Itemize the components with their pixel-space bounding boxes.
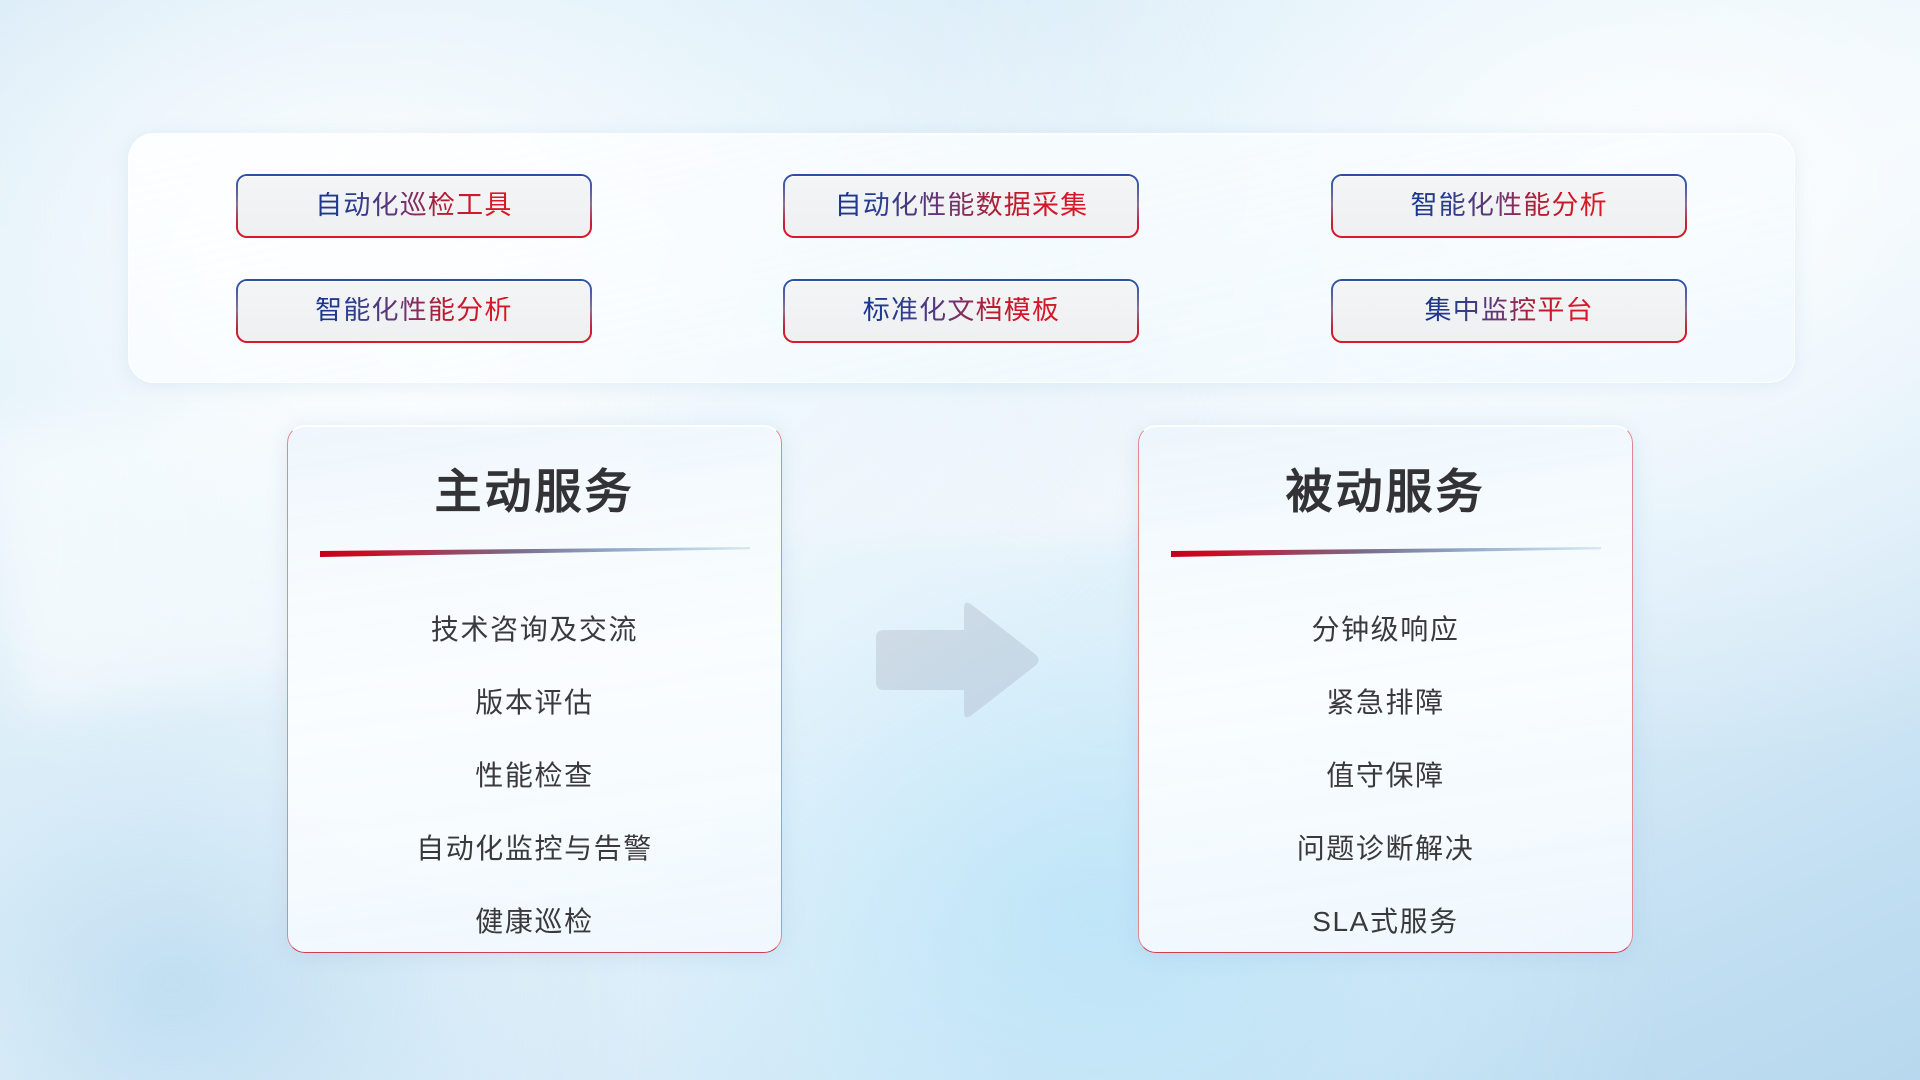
capability-pill-face: 自动化巡检工具 [238, 176, 590, 236]
capability-pill-label: 标准化文档模板 [863, 297, 1060, 324]
capability-pill-label: 智能化性能分析 [1410, 192, 1607, 219]
right-arrow-icon [872, 598, 1042, 723]
service-list-item: 自动化监控与告警 [416, 812, 653, 885]
service-list-item: 值守保障 [1326, 739, 1444, 812]
capability-pill-face: 智能化性能分析 [1333, 176, 1685, 236]
card-title: 主动服务 [288, 426, 781, 515]
capability-pill-face: 自动化性能数据采集 [785, 176, 1137, 236]
capability-pill-label: 智能化性能分析 [315, 297, 512, 324]
capability-panel: 自动化巡检工具 自动化性能数据采集 智能化性能分析 智能化性能分析 标准化文档模… [128, 133, 1795, 383]
service-list-item: 性能检查 [475, 739, 593, 812]
capability-pill-face: 智能化性能分析 [238, 281, 590, 341]
capability-pill-label: 自动化性能数据采集 [835, 192, 1089, 219]
capability-pill-grid: 自动化巡检工具 自动化性能数据采集 智能化性能分析 智能化性能分析 标准化文档模… [129, 134, 1794, 382]
service-list-item: SLA式服务 [1312, 885, 1459, 953]
service-item-list: 分钟级响应 紧急排障 值守保障 问题诊断解决 SLA式服务 [1139, 559, 1632, 953]
capability-pill[interactable]: 智能化性能分析 [1331, 174, 1687, 238]
capability-pill[interactable]: 集中监控平台 [1331, 279, 1687, 343]
capability-pill-face: 集中监控平台 [1333, 281, 1685, 341]
card-divider [320, 547, 750, 559]
service-list-item: 技术咨询及交流 [431, 593, 638, 666]
capability-pill-label: 集中监控平台 [1425, 297, 1594, 324]
service-card-proactive: 主动服务 技术咨询及交流 版本评估 性能检查 自动化监控与告警 健康巡检 [287, 425, 782, 953]
service-card-reactive: 被动服务 分钟级响应 紧急排障 值守保障 问题诊断解决 SLA式服务 [1138, 425, 1633, 953]
service-list-item: 分钟级响应 [1311, 593, 1459, 666]
card-title: 被动服务 [1139, 426, 1632, 515]
capability-pill[interactable]: 自动化性能数据采集 [783, 174, 1139, 238]
service-item-list: 技术咨询及交流 版本评估 性能检查 自动化监控与告警 健康巡检 [288, 559, 781, 953]
service-list-item: 紧急排障 [1326, 666, 1444, 739]
capability-pill[interactable]: 自动化巡检工具 [236, 174, 592, 238]
capability-pill-label: 自动化巡检工具 [315, 192, 512, 219]
service-list-item: 问题诊断解决 [1297, 812, 1475, 885]
capability-pill[interactable]: 智能化性能分析 [236, 279, 592, 343]
service-list-item: 版本评估 [475, 666, 593, 739]
capability-pill-face: 标准化文档模板 [785, 281, 1137, 341]
card-divider [1171, 547, 1601, 559]
capability-pill[interactable]: 标准化文档模板 [783, 279, 1139, 343]
service-list-item: 健康巡检 [475, 885, 593, 953]
